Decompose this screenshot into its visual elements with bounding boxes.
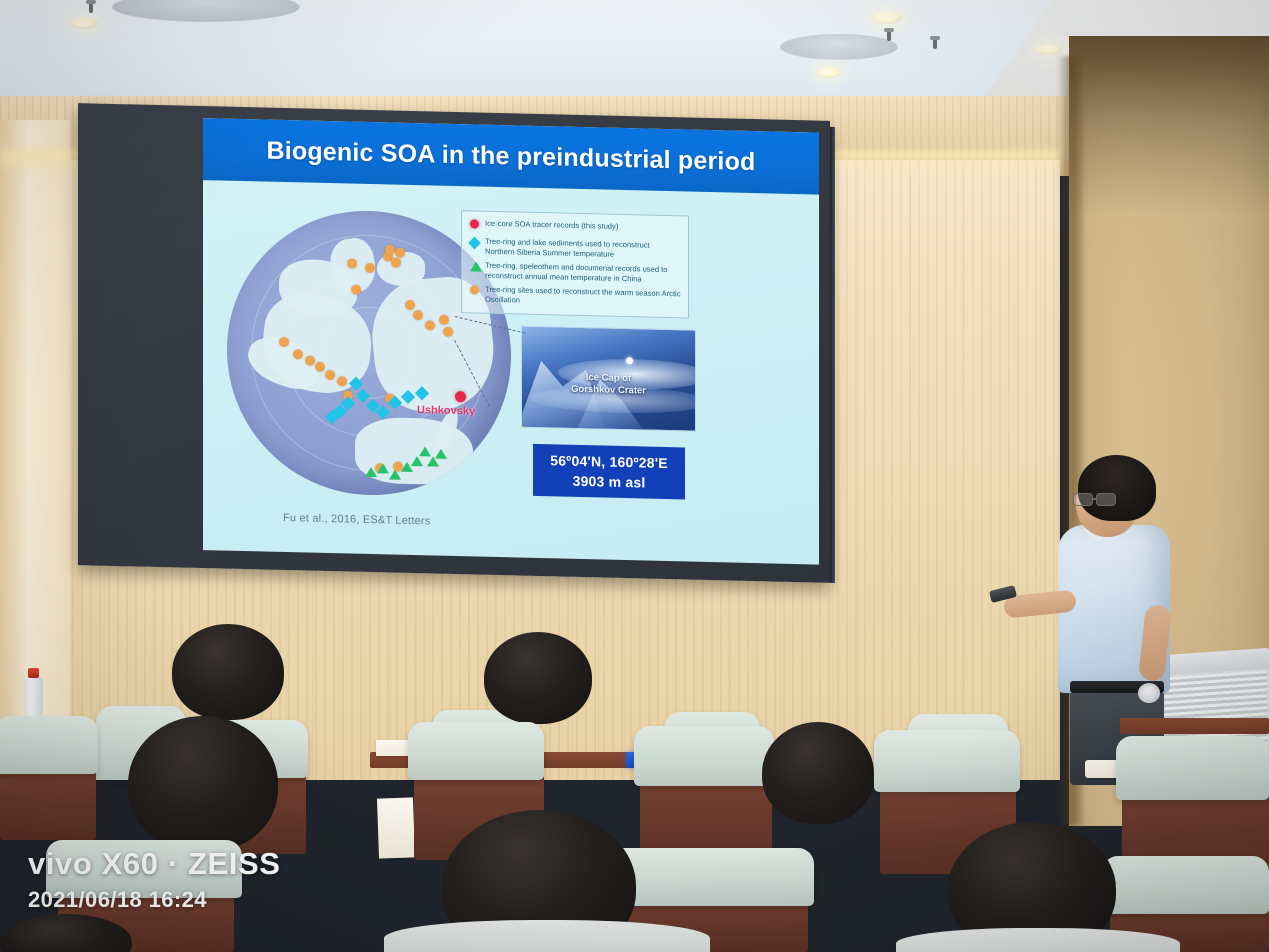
- audience-shoulders: [384, 920, 710, 952]
- legend-item-label: Tree-ring sites used to reconstruct the …: [485, 285, 681, 309]
- paper-stack: [377, 797, 415, 858]
- audience-shoulders: [896, 928, 1180, 952]
- sprinkler-icon: [86, 0, 96, 16]
- site-point-icon: [626, 357, 633, 364]
- seat: [874, 730, 1020, 792]
- desk-row: [1120, 718, 1269, 734]
- presentation-slide: Biogenic SOA in the preindustrial period: [203, 118, 819, 565]
- legend-item-label: Tree-ring and lake sediments used to rec…: [485, 237, 681, 261]
- cyan-diamond-icon: [469, 237, 485, 249]
- wristwatch-icon: [1138, 683, 1160, 703]
- map-marker-orange: [351, 285, 361, 295]
- glasses-icon: [1073, 493, 1125, 507]
- watermark-timestamp: 2021/06/18 16:24: [28, 887, 281, 913]
- legend-item: Tree-ring and lake sediments used to rec…: [469, 236, 681, 260]
- coordinates-line2: 3903 m asl: [573, 471, 646, 493]
- map-marker-orange: [385, 244, 395, 254]
- map-marker-orange: [347, 258, 357, 268]
- coordinates-line1: 56º04'N, 160º28'E: [550, 450, 668, 473]
- map-marker-orange: [443, 327, 453, 337]
- seat: [634, 726, 774, 786]
- seat: [0, 716, 98, 774]
- map-marker-orange: [395, 248, 405, 258]
- map-marker-orange: [315, 362, 325, 372]
- map-marker-orange: [425, 320, 435, 330]
- map-marker-orange: [413, 310, 423, 320]
- curtain-shadow: [1069, 36, 1269, 216]
- map-marker-orange: [365, 263, 375, 273]
- downlight-icon: [1036, 44, 1062, 55]
- map-marker-green: [419, 446, 431, 456]
- map-marker-orange: [305, 355, 315, 365]
- audience-head: [172, 624, 284, 720]
- seat: [608, 848, 814, 906]
- ice-cap-photo: Ice Cap of Gorshkov Crater: [521, 326, 696, 432]
- air-diffuser-icon: [780, 34, 898, 60]
- projection-screen-frame: Biogenic SOA in the preindustrial period: [78, 103, 830, 583]
- downlight-icon: [872, 12, 902, 24]
- map-marker-orange: [337, 376, 347, 386]
- map-marker-green: [411, 456, 423, 466]
- green-triangle-icon: [469, 262, 485, 274]
- slide-title-bar: Biogenic SOA in the preindustrial period: [203, 118, 819, 195]
- audience-head: [484, 632, 592, 724]
- map-marker-green: [377, 463, 389, 473]
- sprinkler-icon: [930, 36, 940, 52]
- map-marker-orange: [325, 370, 335, 380]
- seat: [1102, 856, 1269, 914]
- audience-head: [128, 716, 278, 852]
- legend-item: Tree-ring, speleothem and documenal reco…: [469, 261, 681, 285]
- map-marker-orange: [293, 349, 303, 359]
- legend-item: Ice-core SOA tracer records (this study): [469, 218, 681, 236]
- seat: [408, 722, 544, 780]
- map-marker-green: [365, 467, 377, 477]
- map-marker-orange: [439, 315, 449, 325]
- presenter-hair: [1078, 455, 1156, 521]
- red-circle-icon: [469, 219, 485, 231]
- orange-circle-icon: [469, 286, 485, 298]
- slide-legend: Ice-core SOA tracer records (this study)…: [461, 210, 689, 318]
- legend-item-label: Tree-ring, speleothem and documenal reco…: [485, 261, 681, 285]
- map-marker-ushkovsky: [455, 391, 466, 402]
- downlight-icon: [816, 67, 842, 78]
- map-marker-green: [435, 449, 447, 459]
- map-marker-green: [389, 469, 401, 479]
- slide-title: Biogenic SOA in the preindustrial period: [266, 136, 755, 177]
- map-marker-orange: [279, 337, 289, 347]
- lecture-hall-photo: Biogenic SOA in the preindustrial period: [0, 0, 1269, 952]
- slide-citation: Fu et al., 2016, ES&T Letters: [283, 512, 430, 527]
- map-marker-orange: [405, 300, 415, 310]
- downlight-icon: [70, 18, 98, 29]
- legend-item: Tree-ring sites used to reconstruct the …: [469, 285, 681, 309]
- seat: [1116, 736, 1269, 800]
- camera-watermark: vivo X60 · ZEISS 2021/06/18 16:24: [28, 846, 281, 913]
- coordinates-box: 56º04'N, 160º28'E 3903 m asl: [533, 444, 685, 500]
- map-site-label: Ushkovsky: [417, 404, 475, 417]
- legend-item-label: Ice-core SOA tracer records (this study): [485, 219, 618, 232]
- map-marker-orange: [391, 258, 401, 268]
- water-bottle: [24, 668, 43, 716]
- watermark-brand: vivo X60 · ZEISS: [28, 846, 281, 882]
- audience-head: [762, 722, 874, 824]
- sprinkler-icon: [884, 28, 894, 44]
